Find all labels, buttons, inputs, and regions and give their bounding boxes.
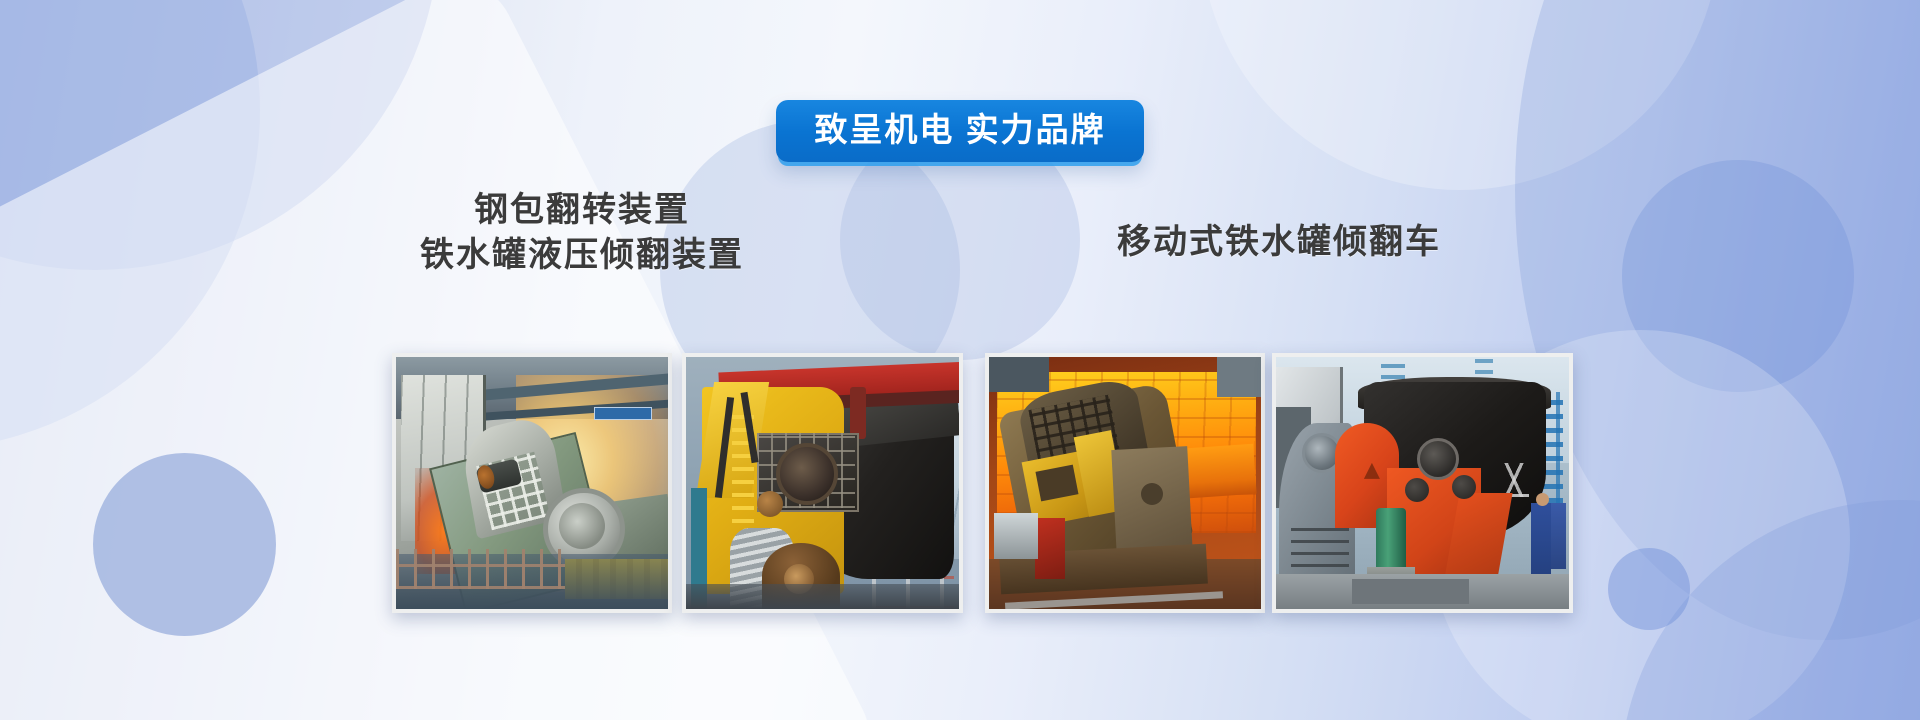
photo-scene [1276, 357, 1569, 609]
photo-scene [396, 357, 668, 609]
title-line-1: 钢包翻转装置 [392, 188, 772, 233]
headline-badge-container: 致呈机电 实力品牌 [0, 100, 1920, 162]
product-titles: 钢包翻转装置 铁水罐液压倾翻装置 移动式铁水罐倾翻车 [0, 188, 1920, 328]
photo-ladle-tilting-furnace[interactable] [392, 353, 672, 613]
headline-badge: 致呈机电 实力品牌 [776, 100, 1143, 162]
photo-tilting-car-hot-furnace[interactable] [985, 353, 1265, 613]
decor-circle-bottom-right-small [1608, 548, 1690, 630]
headline-badge-text: 致呈机电 实力品牌 [814, 109, 1105, 150]
photo-scene [989, 357, 1261, 609]
product-title-mobile-ladle-tilting-car: 移动式铁水罐倾翻车 [985, 220, 1573, 265]
photo-orange-tilting-car-ladle[interactable] [1272, 353, 1573, 613]
photo-yellow-hydraulic-tipper[interactable] [682, 353, 963, 613]
product-photo-strip [392, 353, 1582, 615]
title-line-1: 移动式铁水罐倾翻车 [985, 220, 1573, 265]
photo-scene [686, 357, 959, 609]
product-title-ladle-turning-device: 钢包翻转装置 铁水罐液压倾翻装置 [392, 188, 772, 278]
title-line-2: 铁水罐液压倾翻装置 [392, 233, 772, 278]
promo-banner: 致呈机电 实力品牌 钢包翻转装置 铁水罐液压倾翻装置 移动式铁水罐倾翻车 [0, 0, 1920, 720]
decor-circle-bottom-left [93, 453, 276, 636]
